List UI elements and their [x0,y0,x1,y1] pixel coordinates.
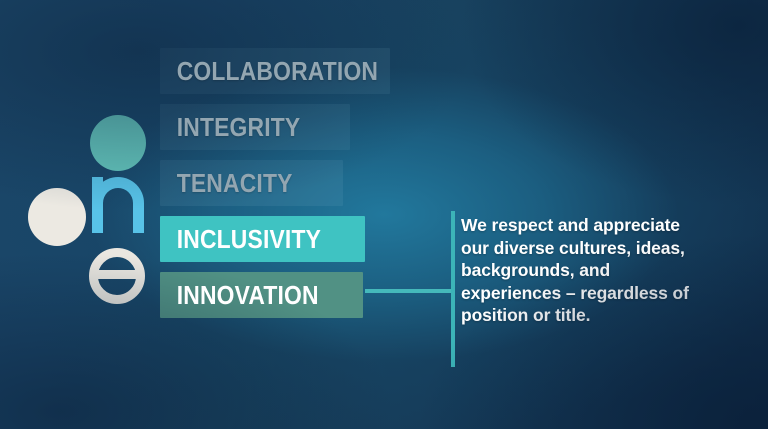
value-item-label: INNOVATION [160,272,319,318]
logo-letter-n-stem-icon [92,177,103,233]
value-item-tenacity[interactable]: TENACITY [160,160,390,206]
value-item-collaboration[interactable]: COLLABORATION [160,48,390,94]
value-item-innovation[interactable]: INNOVATION [160,272,390,318]
value-item-label: TENACITY [160,160,293,206]
logo-letter-e-bar-icon [98,270,142,279]
value-item-inclusivity[interactable]: INCLUSIVITY [160,216,390,262]
logo-teal-circle-icon [90,115,146,171]
value-item-integrity[interactable]: INTEGRITY [160,104,390,150]
connector-horizontal-line [365,289,454,293]
connector-vertical-line [451,211,455,367]
one-logo [14,115,140,310]
value-item-label: INTEGRITY [160,104,300,150]
slide-canvas: COLLABORATION INTEGRITY TENACITY INCLUSI… [0,0,768,429]
value-description-text: We respect and appreciate our diverse cu… [461,214,711,327]
logo-letter-o-icon [28,188,86,246]
core-values-list: COLLABORATION INTEGRITY TENACITY INCLUSI… [160,48,390,328]
value-item-label: INCLUSIVITY [160,216,321,262]
value-item-label: COLLABORATION [160,48,378,94]
